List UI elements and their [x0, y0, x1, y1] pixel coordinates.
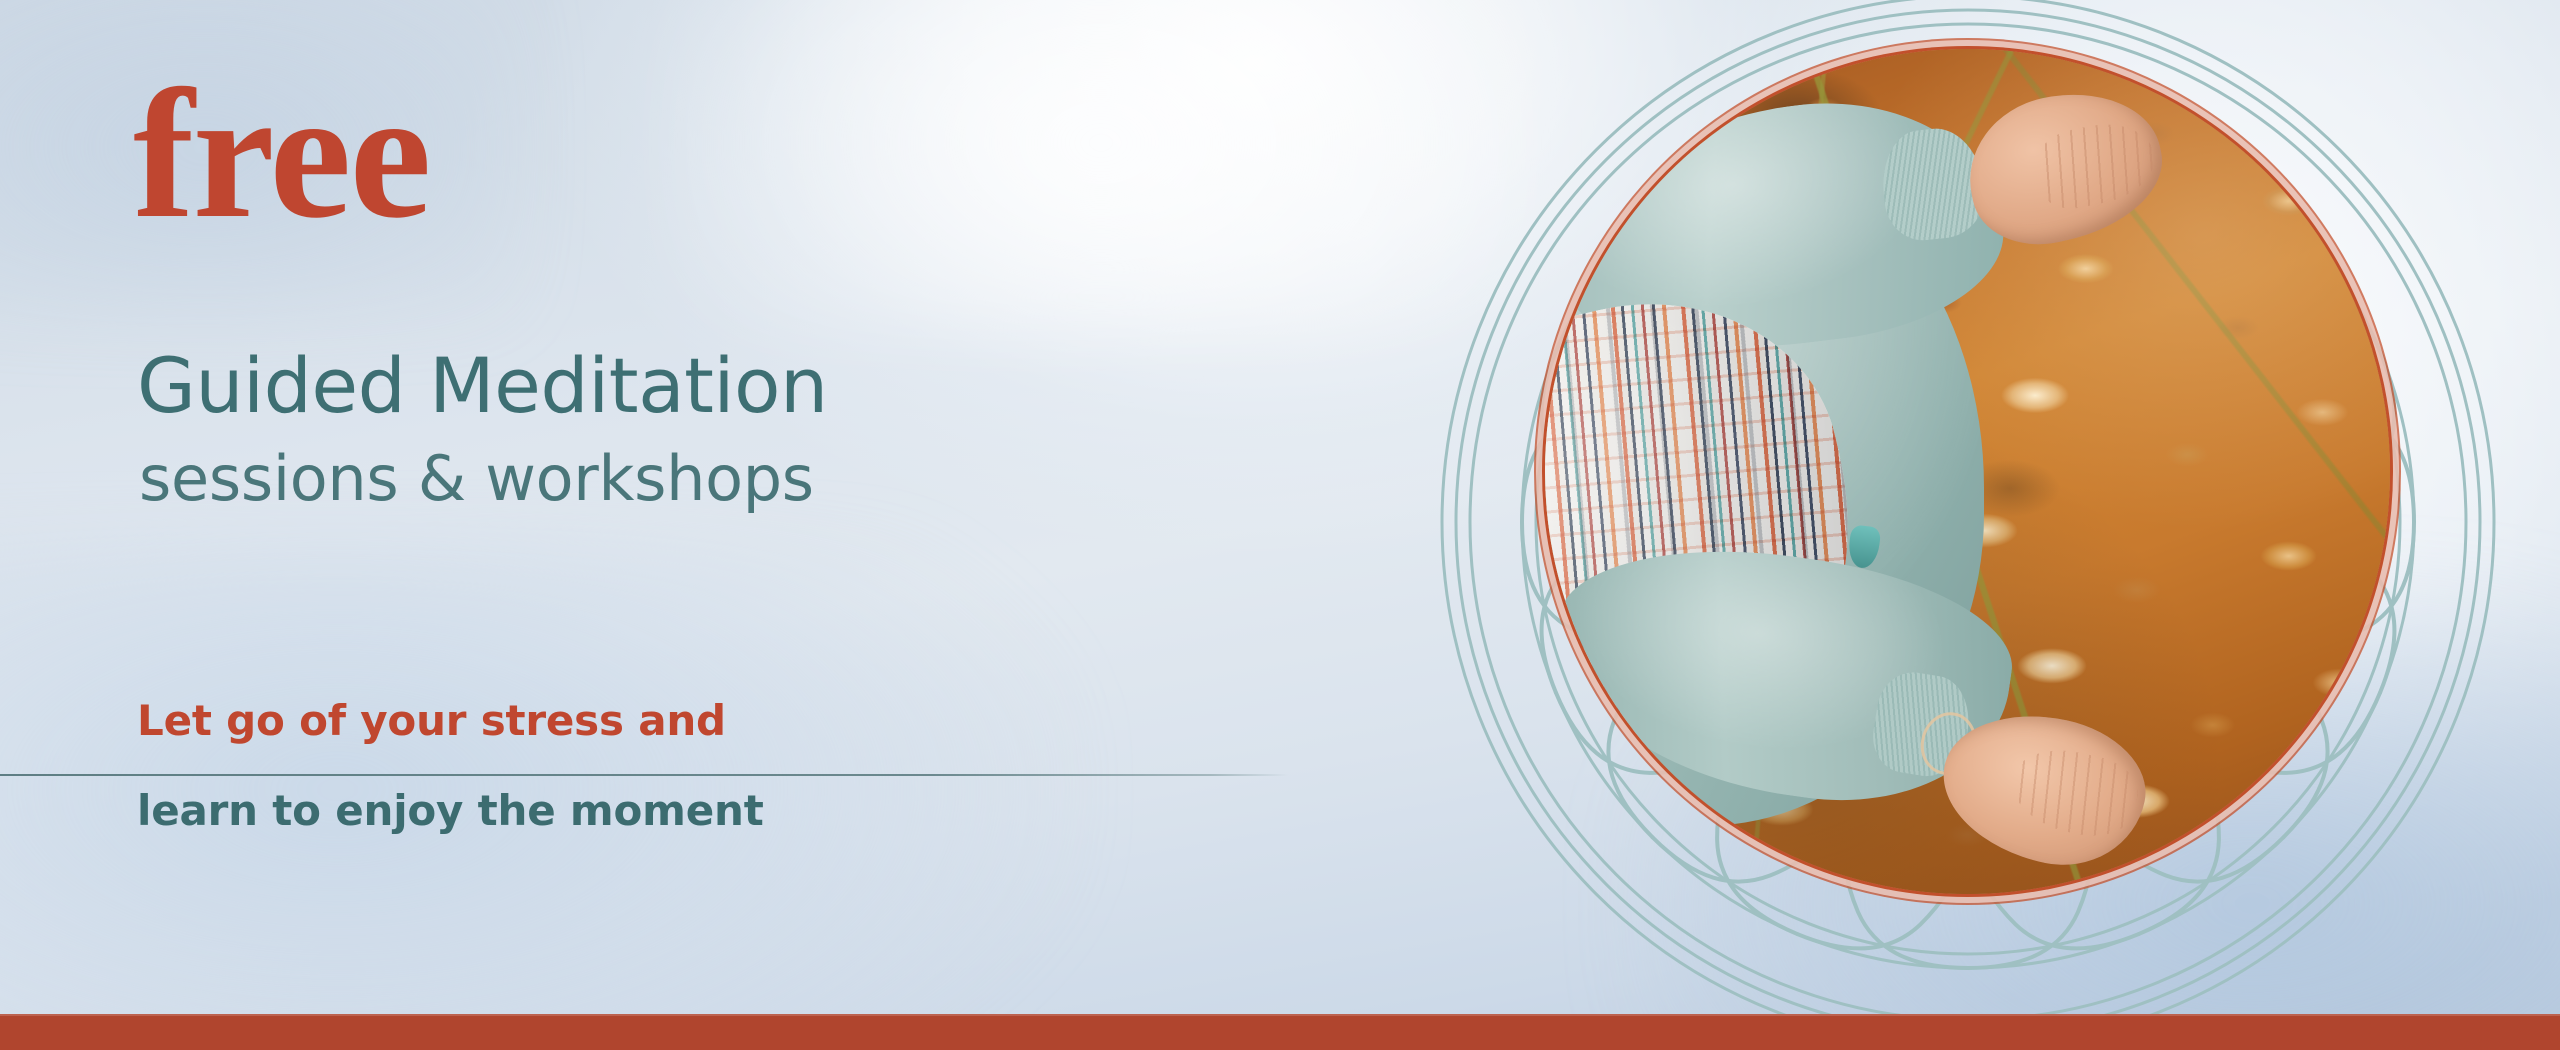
meditation-photo [1545, 49, 2390, 894]
horizontal-divider [0, 774, 1288, 776]
headline-guided-meditation: Guided Meditation [137, 348, 828, 424]
meditating-person [1545, 49, 2390, 894]
copy-block: free Guided Meditation sessions & worksh… [0, 0, 1400, 1050]
mandala-medallion [1438, 0, 2498, 1050]
meditation-promo-banner: free Guided Meditation sessions & worksh… [0, 0, 2560, 1050]
tagline-top: Let go of your stress and [137, 700, 726, 742]
bottom-accent-bar [0, 1014, 2560, 1050]
bottom-bar-highlight [0, 1014, 2560, 1016]
headline-sessions-workshops: sessions & workshops [139, 448, 814, 510]
headline-free: free [133, 62, 430, 247]
tagline-bottom: learn to enjoy the moment [137, 790, 764, 832]
